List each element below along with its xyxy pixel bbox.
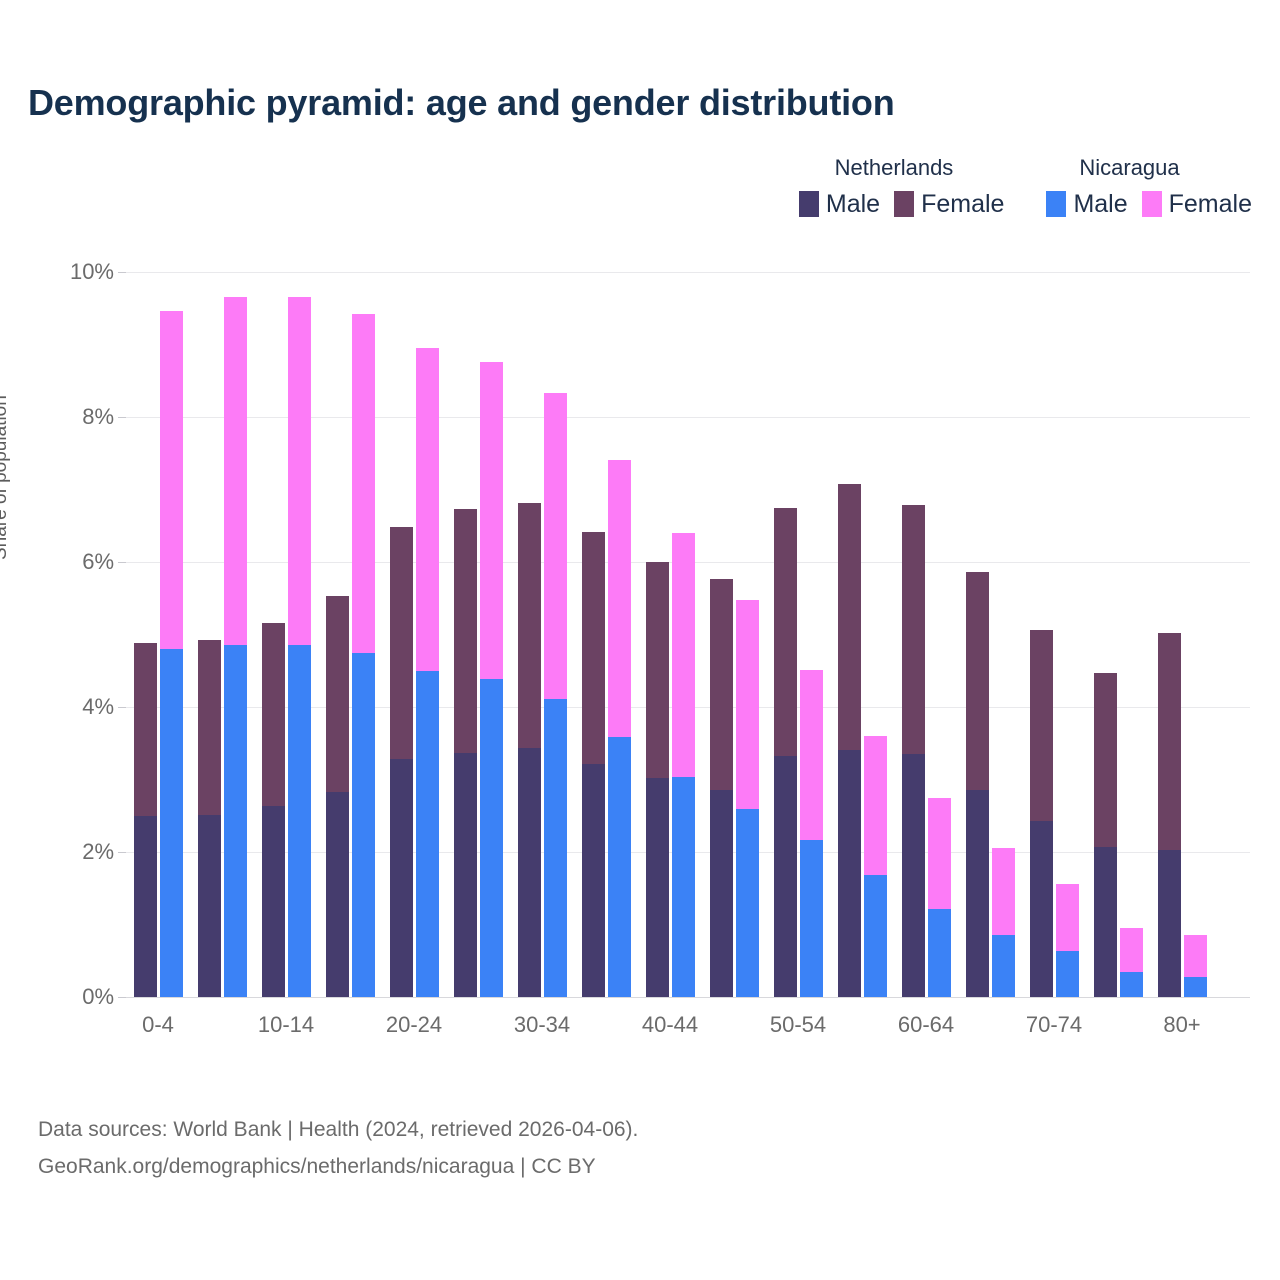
bar-netherlands[interactable] bbox=[390, 527, 413, 997]
bar-segment-male[interactable] bbox=[672, 777, 695, 997]
bar-segment-female[interactable] bbox=[198, 640, 221, 815]
y-tick-label: 4% bbox=[82, 694, 114, 720]
bar-segment-male[interactable] bbox=[416, 671, 439, 997]
bar-segment-female[interactable] bbox=[326, 596, 349, 792]
legend-block-netherlands: Male Female bbox=[785, 191, 1005, 217]
bar-segment-female[interactable] bbox=[454, 509, 477, 753]
bar-netherlands[interactable] bbox=[518, 503, 541, 997]
bar-segment-female[interactable] bbox=[1030, 630, 1053, 821]
bar-nicaragua[interactable] bbox=[608, 460, 631, 997]
bar-netherlands[interactable] bbox=[838, 484, 861, 997]
bar-segment-male[interactable] bbox=[736, 809, 759, 997]
legend-label-nicaragua-male: Male bbox=[1073, 192, 1127, 217]
bar-segment-male[interactable] bbox=[992, 935, 1015, 997]
bar-group bbox=[638, 272, 702, 997]
bar-segment-male[interactable] bbox=[1094, 847, 1117, 997]
y-tick-label: 0% bbox=[82, 984, 114, 1010]
bar-group bbox=[894, 272, 958, 997]
bar-netherlands[interactable] bbox=[198, 640, 221, 997]
bar-segment-female[interactable] bbox=[864, 736, 887, 875]
bar-segment-female[interactable] bbox=[992, 848, 1015, 934]
bar-segment-female[interactable] bbox=[390, 527, 413, 759]
chart-page: Demographic pyramid: age and gender dist… bbox=[0, 0, 1280, 1280]
bar-nicaragua[interactable] bbox=[224, 297, 247, 997]
bar-segment-male[interactable] bbox=[160, 649, 183, 997]
legend-country-netherlands: Netherlands bbox=[781, 155, 1007, 181]
y-tick-label: 10% bbox=[70, 259, 114, 285]
page-title: Demographic pyramid: age and gender dist… bbox=[28, 82, 895, 124]
bar-segment-male[interactable] bbox=[800, 840, 823, 997]
bar-segment-male[interactable] bbox=[774, 756, 797, 997]
x-axis-tick-labels: 0-410-1420-2430-3440-4450-5460-6470-7480… bbox=[126, 1012, 1250, 1052]
bar-group bbox=[318, 272, 382, 997]
bar-segment-male[interactable] bbox=[390, 759, 413, 997]
x-tick-label: 30-34 bbox=[514, 1012, 570, 1038]
x-tick-label: 80+ bbox=[1163, 1012, 1200, 1038]
bar-segment-female[interactable] bbox=[416, 348, 439, 671]
bar-segment-male[interactable] bbox=[1184, 977, 1207, 997]
bar-nicaragua[interactable] bbox=[864, 736, 887, 997]
bar-group bbox=[830, 272, 894, 997]
legend-item-netherlands-female[interactable]: Female bbox=[894, 191, 1004, 217]
bar-segment-female[interactable] bbox=[966, 572, 989, 790]
bar-segment-male[interactable] bbox=[1158, 850, 1181, 997]
bar-group bbox=[126, 272, 190, 997]
bar-netherlands[interactable] bbox=[1158, 633, 1181, 997]
legend-swatch-nicaragua-male bbox=[1046, 191, 1066, 217]
bar-netherlands[interactable] bbox=[582, 532, 605, 997]
bar-segment-male[interactable] bbox=[928, 909, 951, 997]
bar-segment-female[interactable] bbox=[800, 670, 823, 840]
bar-segment-male[interactable] bbox=[646, 778, 669, 997]
bar-segment-female[interactable] bbox=[902, 505, 925, 754]
legend-swatch-nicaragua-female bbox=[1142, 191, 1162, 217]
y-axis-tick-labels: 0%2%4%6%8%10% bbox=[56, 272, 114, 997]
bar-segment-male[interactable] bbox=[902, 754, 925, 997]
x-tick-label: 40-44 bbox=[642, 1012, 698, 1038]
bar-segment-female[interactable] bbox=[646, 562, 669, 778]
bar-segment-female[interactable] bbox=[774, 508, 797, 756]
y-tick-label: 6% bbox=[82, 549, 114, 575]
bar-netherlands[interactable] bbox=[902, 505, 925, 997]
legend-item-nicaragua-male[interactable]: Male bbox=[1046, 191, 1127, 217]
bar-netherlands[interactable] bbox=[710, 579, 733, 997]
bar-segment-female[interactable] bbox=[1158, 633, 1181, 850]
bar-segment-female[interactable] bbox=[352, 314, 375, 653]
bar-segment-male[interactable] bbox=[710, 790, 733, 997]
y-tick-label: 2% bbox=[82, 839, 114, 865]
bar-segment-female[interactable] bbox=[710, 579, 733, 791]
legend-swatch-netherlands-male bbox=[799, 191, 819, 217]
bar-nicaragua[interactable] bbox=[480, 362, 503, 997]
bar-segment-male[interactable] bbox=[198, 815, 221, 997]
y-tick-mark bbox=[118, 272, 126, 273]
bar-netherlands[interactable] bbox=[134, 643, 157, 997]
bar-nicaragua[interactable] bbox=[928, 798, 951, 997]
bar-segment-female[interactable] bbox=[1184, 935, 1207, 977]
legend-country-nicaragua: Nicaragua bbox=[1007, 155, 1252, 181]
bar-nicaragua[interactable] bbox=[672, 533, 695, 997]
bar-nicaragua[interactable] bbox=[352, 314, 375, 997]
bar-segment-male[interactable] bbox=[1030, 821, 1053, 997]
bar-nicaragua[interactable] bbox=[800, 670, 823, 997]
bar-segment-female[interactable] bbox=[582, 532, 605, 764]
footer: Data sources: World Bank | Health (2024,… bbox=[38, 1112, 638, 1186]
bar-netherlands[interactable] bbox=[454, 509, 477, 997]
bar-segment-male[interactable] bbox=[864, 875, 887, 997]
bar-segment-male[interactable] bbox=[224, 645, 247, 997]
bar-group bbox=[766, 272, 830, 997]
y-tick-label: 8% bbox=[82, 404, 114, 430]
bar-segment-female[interactable] bbox=[262, 623, 285, 806]
bar-group bbox=[574, 272, 638, 997]
x-tick-label: 60-64 bbox=[898, 1012, 954, 1038]
legend-label-netherlands-female: Female bbox=[921, 192, 1004, 217]
bar-nicaragua[interactable] bbox=[544, 393, 567, 997]
bar-nicaragua[interactable] bbox=[992, 848, 1015, 997]
bar-group bbox=[190, 272, 254, 997]
legend-label-nicaragua-female: Female bbox=[1169, 192, 1252, 217]
y-tick-mark bbox=[118, 562, 126, 563]
bar-segment-male[interactable] bbox=[352, 653, 375, 997]
bar-segment-female[interactable] bbox=[736, 600, 759, 810]
bar-segment-male[interactable] bbox=[544, 699, 567, 997]
legend-label-netherlands-male: Male bbox=[826, 192, 880, 217]
gridline bbox=[126, 997, 1250, 998]
bar-segment-female[interactable] bbox=[134, 643, 157, 816]
bar-group bbox=[382, 272, 446, 997]
bar-group bbox=[254, 272, 318, 997]
bar-nicaragua[interactable] bbox=[416, 348, 439, 997]
x-tick-label: 0-4 bbox=[142, 1012, 174, 1038]
bar-segment-male[interactable] bbox=[966, 790, 989, 997]
bar-segment-male[interactable] bbox=[518, 748, 541, 997]
bar-group bbox=[446, 272, 510, 997]
bar-segment-female[interactable] bbox=[838, 484, 861, 749]
footer-line-attribution: GeoRank.org/demographics/netherlands/nic… bbox=[38, 1149, 638, 1186]
bar-nicaragua[interactable] bbox=[160, 311, 183, 997]
bar-segment-female[interactable] bbox=[1056, 884, 1079, 951]
bar-group bbox=[702, 272, 766, 997]
bar-segment-male[interactable] bbox=[262, 806, 285, 997]
bar-nicaragua[interactable] bbox=[1056, 884, 1079, 997]
bar-group bbox=[958, 272, 1022, 997]
plot-area bbox=[126, 272, 1250, 997]
bar-segment-female[interactable] bbox=[224, 297, 247, 645]
bar-segment-male[interactable] bbox=[1056, 951, 1079, 997]
bar-nicaragua[interactable] bbox=[736, 600, 759, 997]
legend-item-nicaragua-female[interactable]: Female bbox=[1142, 191, 1252, 217]
bar-group bbox=[1150, 272, 1214, 997]
bar-segment-male[interactable] bbox=[582, 764, 605, 997]
bar-segment-female[interactable] bbox=[288, 297, 311, 645]
x-tick-label: 70-74 bbox=[1026, 1012, 1082, 1038]
bar-netherlands[interactable] bbox=[1030, 630, 1053, 997]
bar-netherlands[interactable] bbox=[1094, 673, 1117, 997]
bar-segment-female[interactable] bbox=[544, 393, 567, 699]
footer-line-sources: Data sources: World Bank | Health (2024,… bbox=[38, 1112, 638, 1149]
legend: Netherlands Nicaragua Male Female Male bbox=[700, 155, 1252, 217]
legend-block-nicaragua: Male Female bbox=[1032, 191, 1252, 217]
bar-segment-female[interactable] bbox=[160, 311, 183, 649]
bar-nicaragua[interactable] bbox=[1120, 928, 1143, 997]
bar-segment-female[interactable] bbox=[608, 460, 631, 738]
bar-segment-male[interactable] bbox=[608, 737, 631, 997]
bar-nicaragua[interactable] bbox=[288, 297, 311, 997]
bar-segment-female[interactable] bbox=[1120, 928, 1143, 972]
bar-segment-female[interactable] bbox=[518, 503, 541, 748]
bar-netherlands[interactable] bbox=[262, 623, 285, 997]
bar-segment-female[interactable] bbox=[480, 362, 503, 679]
x-tick-label: 20-24 bbox=[386, 1012, 442, 1038]
bar-nicaragua[interactable] bbox=[1184, 935, 1207, 997]
bar-segment-male[interactable] bbox=[326, 792, 349, 997]
bar-group bbox=[1022, 272, 1086, 997]
y-tick-mark bbox=[118, 997, 126, 998]
y-axis-title: Share of population bbox=[0, 260, 12, 560]
legend-country-titles: Netherlands Nicaragua bbox=[700, 155, 1252, 181]
bar-group bbox=[1086, 272, 1150, 997]
bar-segment-male[interactable] bbox=[454, 753, 477, 997]
x-tick-label: 10-14 bbox=[258, 1012, 314, 1038]
bar-group bbox=[510, 272, 574, 997]
bar-segment-male[interactable] bbox=[480, 679, 503, 997]
bar-segment-male[interactable] bbox=[1120, 972, 1143, 997]
legend-item-netherlands-male[interactable]: Male bbox=[799, 191, 880, 217]
bar-segment-female[interactable] bbox=[928, 798, 951, 909]
bar-segment-male[interactable] bbox=[134, 816, 157, 997]
bar-netherlands[interactable] bbox=[646, 562, 669, 997]
y-tick-mark bbox=[118, 707, 126, 708]
y-tick-mark bbox=[118, 852, 126, 853]
bar-segment-female[interactable] bbox=[1094, 673, 1117, 847]
bar-netherlands[interactable] bbox=[326, 596, 349, 997]
bar-segment-male[interactable] bbox=[838, 750, 861, 997]
legend-swatch-netherlands-female bbox=[894, 191, 914, 217]
bar-segment-male[interactable] bbox=[288, 645, 311, 997]
x-tick-label: 50-54 bbox=[770, 1012, 826, 1038]
bar-netherlands[interactable] bbox=[966, 572, 989, 997]
legend-items: Male Female Male Female bbox=[700, 191, 1252, 217]
y-tick-mark bbox=[118, 417, 126, 418]
bar-segment-female[interactable] bbox=[672, 533, 695, 777]
bar-netherlands[interactable] bbox=[774, 508, 797, 997]
